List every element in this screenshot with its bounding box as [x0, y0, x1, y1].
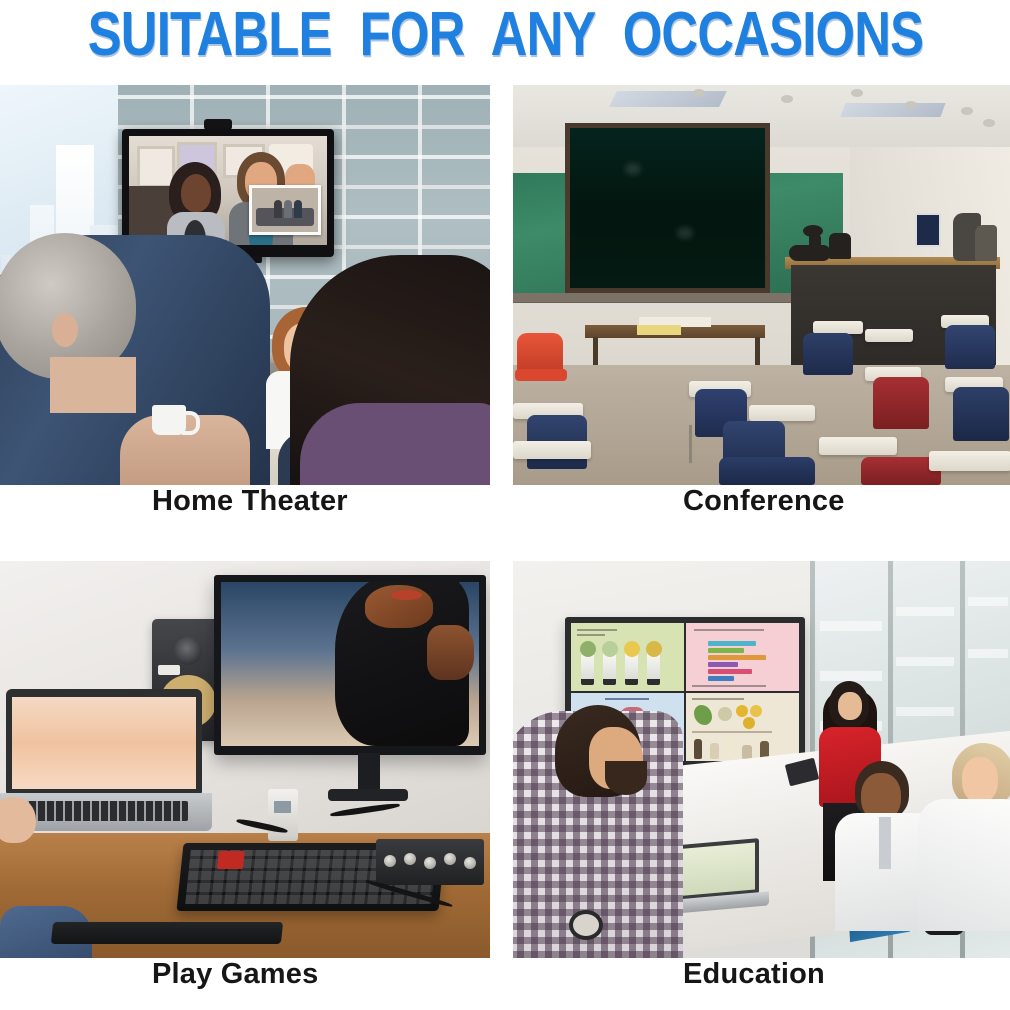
- speaker-tweeter: [174, 637, 202, 665]
- ceiling-light: [840, 103, 945, 117]
- plant-icon: [646, 641, 662, 657]
- presenter-face: [838, 692, 862, 720]
- monitor-screen: [221, 582, 479, 746]
- plant-icon: [624, 641, 640, 657]
- photo-conference: [513, 85, 1010, 485]
- laptop: [6, 689, 202, 815]
- student-desk: [513, 441, 591, 459]
- recessed-spot: [983, 119, 995, 127]
- frosted-stripe: [820, 671, 882, 681]
- laptop-lid: [6, 689, 202, 797]
- av-bag: [789, 245, 831, 261]
- bottle-icon: [726, 737, 734, 759]
- projection-screen: [570, 128, 765, 288]
- panel-title-line: [577, 629, 617, 631]
- wall-display: [915, 213, 941, 247]
- plant-icon: [580, 641, 596, 657]
- wrist-watch: [569, 910, 603, 940]
- scenario-grid: Home Theater Conference: [0, 85, 1010, 1010]
- attendee-far-right-face: [962, 757, 998, 803]
- tv-screen: [129, 136, 327, 245]
- dock-display: [274, 801, 291, 813]
- laptop-keyboard: [20, 801, 188, 821]
- desk-chair: [945, 325, 995, 369]
- red-chair: [517, 333, 563, 373]
- av-camera-head: [803, 225, 823, 237]
- game-character-arm: [427, 625, 473, 681]
- projection-screen-frame: [565, 123, 770, 293]
- dashboard-ingredients-panel: [686, 693, 799, 761]
- dashboard-bar-chart: [686, 623, 799, 691]
- yellow-folder: [637, 325, 681, 335]
- page-title: SUITABLE FOR ANY OCCASIONS: [87, 4, 923, 66]
- scenario-card-home-theater[interactable]: [0, 85, 490, 485]
- red-chair-seat: [515, 369, 567, 381]
- coffee-mug: [152, 405, 186, 435]
- user-hand: [0, 797, 36, 843]
- wrist-rest: [51, 922, 283, 944]
- mixer-knob[interactable]: [404, 853, 416, 865]
- mother-shoulder: [300, 403, 490, 485]
- caption-cell-play-games: Play Games: [0, 958, 490, 991]
- ceiling-light: [609, 91, 727, 107]
- wasd-keys[interactable]: [217, 851, 245, 869]
- aloe-icon: [694, 705, 712, 725]
- father-neck: [50, 357, 136, 413]
- chart-bar: [708, 655, 766, 660]
- audio-dock: [268, 789, 298, 841]
- caption-conference: Conference: [513, 485, 1010, 518]
- chair-leg: [689, 425, 692, 463]
- caption-play-games: Play Games: [0, 958, 490, 991]
- screen-reflection: [625, 163, 641, 175]
- father-ear: [52, 313, 78, 347]
- panel-title-line: [692, 698, 744, 700]
- frosted-stripe: [896, 707, 954, 716]
- scenario-card-play-games[interactable]: [0, 561, 490, 958]
- flower-icon: [736, 705, 748, 717]
- bottle-icon: [742, 745, 752, 759]
- scenario-card-conference[interactable]: [513, 85, 1010, 485]
- mixer-knob[interactable]: [464, 857, 476, 869]
- audio-interface: [376, 839, 484, 885]
- plant-icon: [602, 641, 618, 657]
- wall-frame: [137, 146, 175, 188]
- mixer-knob[interactable]: [424, 857, 436, 869]
- chart-title-line: [694, 629, 764, 631]
- student-desk: [749, 405, 815, 421]
- recessed-spot: [851, 89, 863, 97]
- caption-cell-conference: Conference: [513, 485, 1010, 518]
- student-desk: [865, 329, 913, 342]
- picture-in-picture: [249, 185, 321, 235]
- caption-home-theater: Home Theater: [0, 485, 490, 518]
- attendee-right-tie: [879, 817, 891, 869]
- tube-cap: [603, 679, 616, 685]
- frosted-stripe: [896, 657, 954, 666]
- gaming-monitor: [214, 575, 486, 755]
- tube-cap: [647, 679, 660, 685]
- screen-reflection: [677, 227, 693, 239]
- panel-text-line: [577, 634, 605, 636]
- mixer-knob[interactable]: [444, 853, 456, 865]
- caption-cell-home-theater: Home Theater: [0, 485, 490, 518]
- scenario-card-education[interactable]: [513, 561, 1010, 958]
- mixer-knob[interactable]: [384, 855, 396, 867]
- seed-icon: [718, 707, 732, 721]
- recessed-spot: [905, 101, 917, 109]
- pip-person: [274, 200, 282, 218]
- desk-chair: [803, 333, 853, 375]
- caption-cell-education: Education: [513, 958, 1010, 991]
- chart-bar: [708, 641, 756, 646]
- recessed-spot: [781, 95, 793, 103]
- student-desk: [929, 451, 1010, 471]
- photo-play-games: [0, 561, 490, 958]
- frosted-stripe: [820, 621, 882, 631]
- frosted-stripe: [896, 607, 954, 616]
- bottle-icon: [710, 743, 719, 759]
- attendee-left-beard: [605, 761, 647, 795]
- desk-chair: [953, 387, 1009, 441]
- call-woman-face: [181, 174, 211, 212]
- photo-education: [513, 561, 1010, 958]
- tube-cap: [625, 679, 638, 685]
- recessed-spot: [961, 107, 973, 115]
- pip-person: [284, 200, 292, 218]
- desk-chair-red: [873, 377, 929, 429]
- chart-bar: [708, 669, 752, 674]
- laptop-screen: [12, 697, 196, 789]
- panel-divider: [692, 731, 772, 733]
- map-title-line: [605, 698, 649, 700]
- page-header: SUITABLE FOR ANY OCCASIONS: [0, 0, 1010, 70]
- pip-person: [294, 200, 302, 218]
- frosted-stripe: [968, 597, 1008, 606]
- student-desk: [819, 437, 897, 455]
- mug-handle: [182, 411, 200, 435]
- frosted-stripe: [968, 649, 1008, 658]
- monitor-stand-base: [328, 789, 408, 801]
- chart-bar: [708, 648, 744, 653]
- av-device: [829, 233, 851, 259]
- desk-chair: [719, 457, 815, 485]
- recessed-spot: [693, 89, 705, 97]
- bottle-icon: [694, 739, 702, 759]
- speaker-port: [158, 665, 180, 675]
- tube-cap: [581, 679, 594, 685]
- flower-icon: [743, 717, 755, 729]
- dashboard-product-panel: [571, 623, 684, 691]
- av-equipment: [975, 225, 997, 261]
- attendee-far-right-shirt: [918, 799, 1010, 931]
- chart-bar: [708, 662, 738, 667]
- chart-bar: [708, 676, 734, 681]
- flower-icon: [750, 705, 762, 717]
- photo-home-theater: [0, 85, 490, 485]
- chart-axis-line: [692, 685, 766, 687]
- caption-education: Education: [513, 958, 1010, 991]
